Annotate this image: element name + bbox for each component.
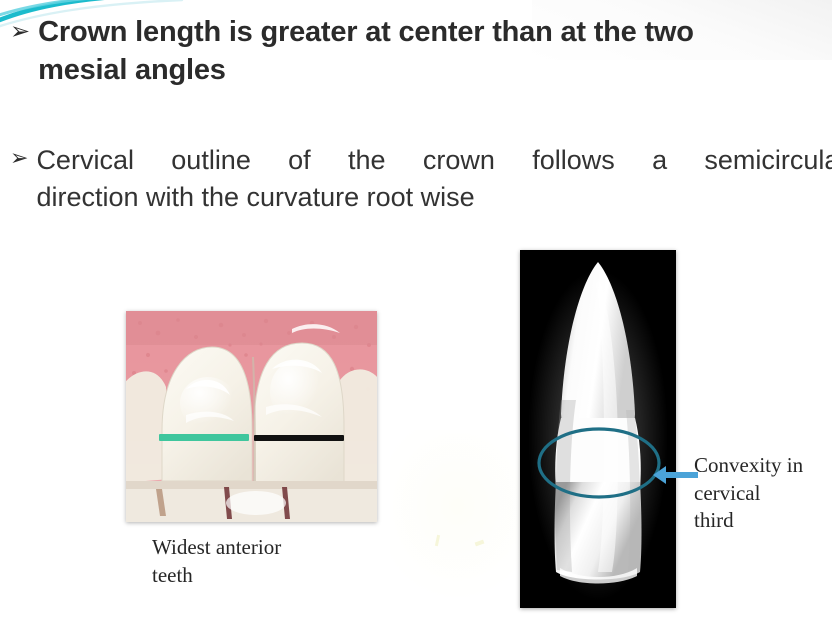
scan-artifact-mark	[475, 540, 485, 547]
bullet-arrow-icon: ➢	[10, 14, 30, 44]
clinical-photo-maxillary-central-incisors	[126, 311, 377, 522]
bullet-text-line-2: direction with the curvature root wise	[36, 179, 832, 216]
scan-artifact-mark	[435, 535, 440, 546]
photo-content	[126, 311, 377, 522]
annotation-convexity-cervical-third: Convexity in cervical third	[694, 452, 832, 535]
bullet-text-crown-length: Crown length is greater at center than a…	[38, 14, 832, 89]
presentation-slide: ➢ Crown length is greater at center than…	[0, 0, 832, 640]
tooth-illustration-proximal-view	[520, 250, 676, 608]
background-glow-center	[390, 430, 540, 600]
caption-widest-anterior-teeth: Widest anterior teeth	[152, 534, 382, 589]
bullet-text-line-1: Cervical outline of the crown follows a …	[36, 142, 832, 179]
bullet-item-crown-length: ➢ Crown length is greater at center than…	[10, 14, 832, 89]
tooth-illustration-content	[520, 250, 676, 608]
measure-line-black	[254, 435, 344, 441]
bullet-item-cervical-outline: ➢ Cervical outline of the crown follows …	[10, 142, 832, 217]
bullet-arrow-icon: ➢	[10, 142, 28, 169]
bullet-text-cervical-outline: Cervical outline of the crown follows a …	[36, 142, 832, 217]
measure-line-green	[159, 434, 249, 441]
